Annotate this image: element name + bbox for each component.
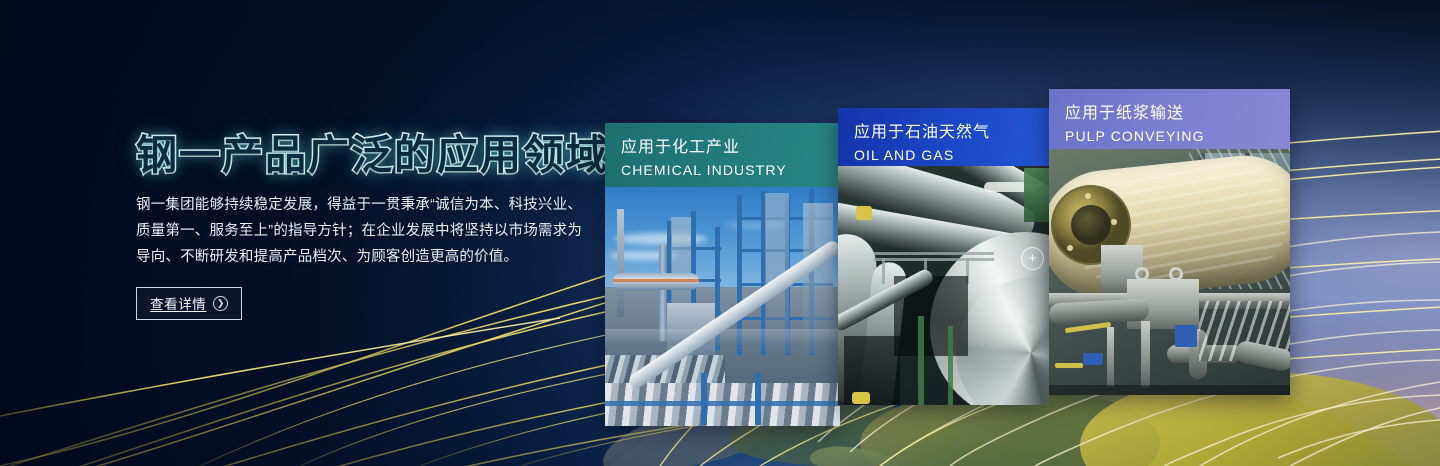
card-image-oil-gas: +: [838, 166, 1049, 405]
card-title-cn: 应用于化工产业: [621, 137, 840, 159]
chevron-right-circle-icon: ❯: [213, 296, 228, 311]
card-title-cn: 应用于石油天然气: [854, 122, 1049, 144]
view-details-button[interactable]: 查看详情 ❯: [136, 287, 242, 320]
page-title: 钢一产品广泛的应用领域: [136, 132, 606, 178]
card-title-cn: 应用于纸浆输送: [1065, 103, 1290, 125]
card-header-oil-gas: 应用于石油天然气 OIL AND GAS: [838, 108, 1049, 166]
application-card-pulp[interactable]: 应用于纸浆输送 PULP CONVEYING: [1049, 89, 1290, 395]
banner-description: 钢一集团能够持续稳定发展，得益于一贯秉承“诚信为本、科技兴业、质量第一、服务至上…: [136, 192, 584, 270]
card-title-en: CHEMICAL INDUSTRY: [621, 160, 840, 180]
application-card-chemical[interactable]: 应用于化工产业 CHEMICAL INDUSTRY: [605, 123, 840, 426]
card-header-chemical: 应用于化工产业 CHEMICAL INDUSTRY: [605, 123, 840, 187]
application-card-oil-gas[interactable]: 应用于石油天然气 OIL AND GAS: [838, 108, 1049, 405]
card-title-en: OIL AND GAS: [854, 145, 1049, 165]
card-header-pulp: 应用于纸浆输送 PULP CONVEYING: [1049, 89, 1290, 149]
banner-copy: 钢一产品广泛的应用领域 钢一集团能够持续稳定发展，得益于一贯秉承“诚信为本、科技…: [136, 132, 606, 320]
hero-banner: 钢一产品广泛的应用领域 钢一集团能够持续稳定发展，得益于一贯秉承“诚信为本、科技…: [0, 0, 1440, 466]
card-title-en: PULP CONVEYING: [1065, 126, 1290, 146]
card-image-pulp: [1049, 149, 1290, 395]
view-details-label: 查看详情: [150, 293, 206, 313]
plus-zoom-icon[interactable]: +: [1021, 247, 1044, 270]
card-image-chemical: [605, 187, 840, 426]
